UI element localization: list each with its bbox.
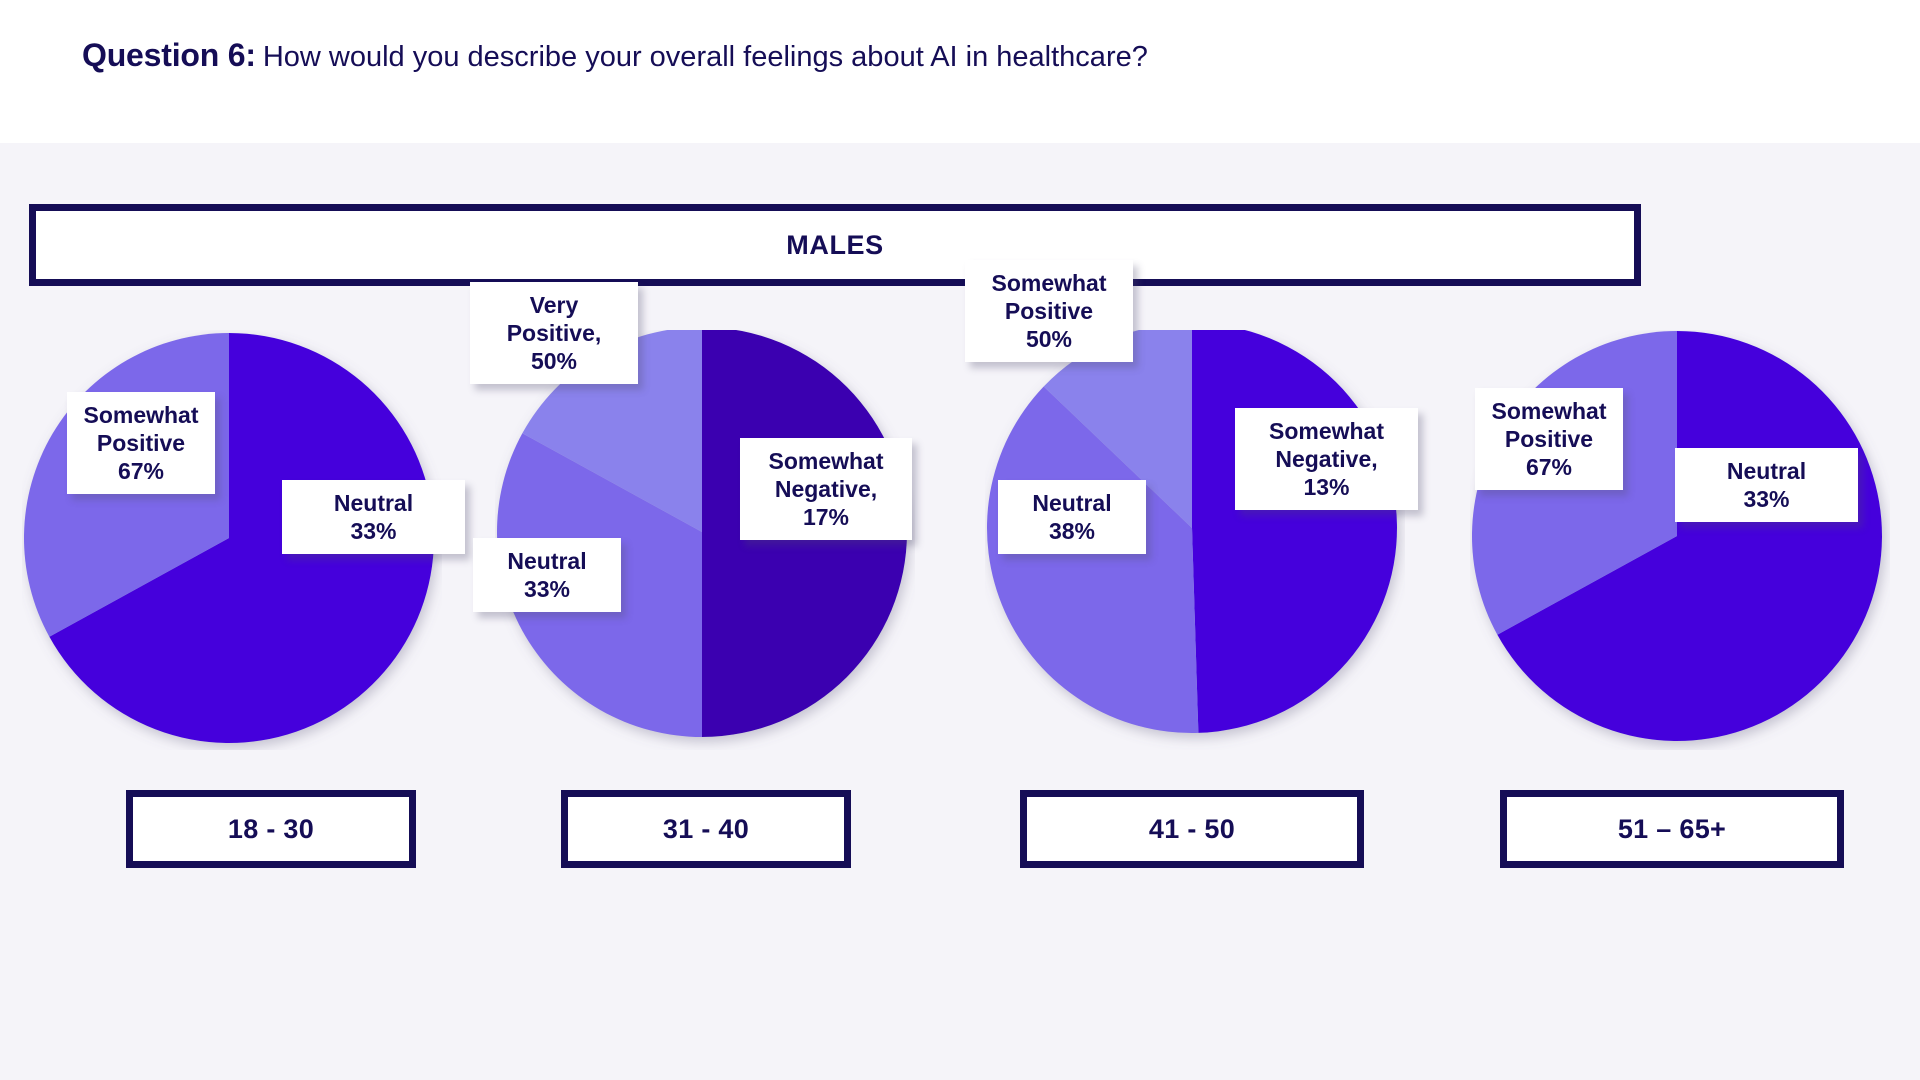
age-range-label: 51 – 65+: [1618, 814, 1726, 845]
pie-slice: [1192, 330, 1397, 733]
pie-slice-callout: Somewhat Negative, 17%: [740, 438, 912, 540]
pie-slice-callout: Neutral 38%: [998, 480, 1146, 554]
age-range-label: 18 - 30: [228, 814, 314, 845]
question-text: How would you describe your overall feel…: [263, 41, 1148, 73]
pie-chart-4: Somewhat Positive 67%Neutral 33%: [1470, 330, 1890, 750]
age-range-box-1: 18 - 30: [126, 790, 416, 868]
pie-chart-1: Somewhat Positive 67%Neutral 33%: [22, 330, 442, 750]
pie-slice-callout: Somewhat Positive 50%: [965, 260, 1133, 362]
header-band: Question 6:How would you describe your o…: [0, 0, 1920, 143]
pie-chart-2: Very Positive, 50%Neutral 33%Somewhat Ne…: [495, 330, 915, 750]
group-banner: MALES: [29, 204, 1641, 286]
age-range-label: 31 - 40: [663, 814, 749, 845]
pie-slice-callout: Neutral 33%: [282, 480, 465, 554]
pie-chart-3: Somewhat Positive 50%Neutral 38%Somewhat…: [985, 330, 1405, 750]
pie-slice-callout: Neutral 33%: [473, 538, 621, 612]
group-banner-label: MALES: [786, 230, 884, 261]
question-number-label: Question 6:: [82, 37, 256, 73]
age-range-box-2: 31 - 40: [561, 790, 851, 868]
page-title: Question 6:How would you describe your o…: [82, 34, 1148, 78]
age-range-row: 18 - 3031 - 4041 - 5051 – 65+: [0, 790, 1920, 880]
age-range-box-3: 41 - 50: [1020, 790, 1364, 868]
pie-charts-row: Somewhat Positive 67%Neutral 33%Very Pos…: [0, 330, 1920, 750]
pie-slice-callout: Somewhat Negative, 13%: [1235, 408, 1418, 510]
age-range-label: 41 - 50: [1149, 814, 1235, 845]
pie-slice-callout: Somewhat Positive 67%: [1475, 388, 1623, 490]
pie-slice-callout: Very Positive, 50%: [470, 282, 638, 384]
age-range-box-4: 51 – 65+: [1500, 790, 1844, 868]
pie-slice-callout: Neutral 33%: [1675, 448, 1858, 522]
pie-slice-callout: Somewhat Positive 67%: [67, 392, 215, 494]
